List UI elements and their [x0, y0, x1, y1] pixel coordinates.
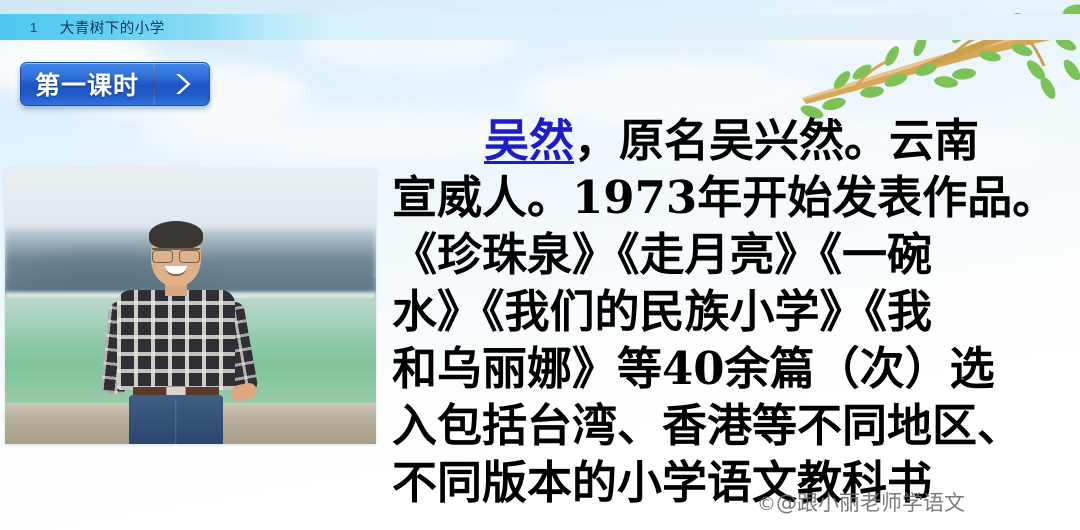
author-name: 吴然	[484, 114, 574, 167]
bio-line-4: 水》《我们的民族小学》《我	[392, 283, 1080, 340]
copyright-icon: ©	[757, 493, 776, 515]
author-biography-text: 吴然，原名吴兴然。云南 宣威人。1973年开始发表作品。 《珍珠泉》《走月亮》《…	[392, 112, 1080, 511]
watermark-text: @跟小丽老师学语文	[776, 491, 965, 515]
person-hair	[149, 221, 203, 249]
chevron-right-icon[interactable]	[155, 63, 209, 105]
bio-line-2: 宣威人。1973年开始发表作品。	[392, 169, 1080, 226]
lesson-period-label: 第一课时	[21, 63, 153, 105]
bio-line-1-rest: ，原名吴兴然。云南	[574, 114, 979, 167]
watermark: ©@跟小丽老师学语文	[757, 487, 965, 517]
photo-person	[101, 224, 251, 444]
bio-line-7: 不同版本的小学语文教科书	[392, 454, 1080, 511]
bio-line-3: 《珍珠泉》《走月亮》《一碗	[392, 226, 1080, 283]
lesson-title: 大青树下的小学	[60, 17, 165, 38]
slide-canvas: 1 大青树下的小学 第一课时	[0, 0, 1080, 530]
lesson-period-button[interactable]: 第一课时	[20, 62, 210, 106]
author-portrait-photo	[5, 168, 376, 444]
lesson-header: 1 大青树下的小学	[0, 14, 165, 40]
bio-line-6: 入包括台湾、香港等不同地区、	[392, 397, 1080, 454]
glasses-icon	[152, 248, 200, 259]
person-plaid-shirt	[117, 290, 235, 390]
lesson-number: 1	[30, 20, 38, 35]
bio-line-1: 吴然，原名吴兴然。云南	[392, 112, 1080, 169]
bio-line-5: 和乌丽娜》等40余篇（次）选	[392, 340, 1080, 397]
person-jeans	[129, 395, 223, 444]
